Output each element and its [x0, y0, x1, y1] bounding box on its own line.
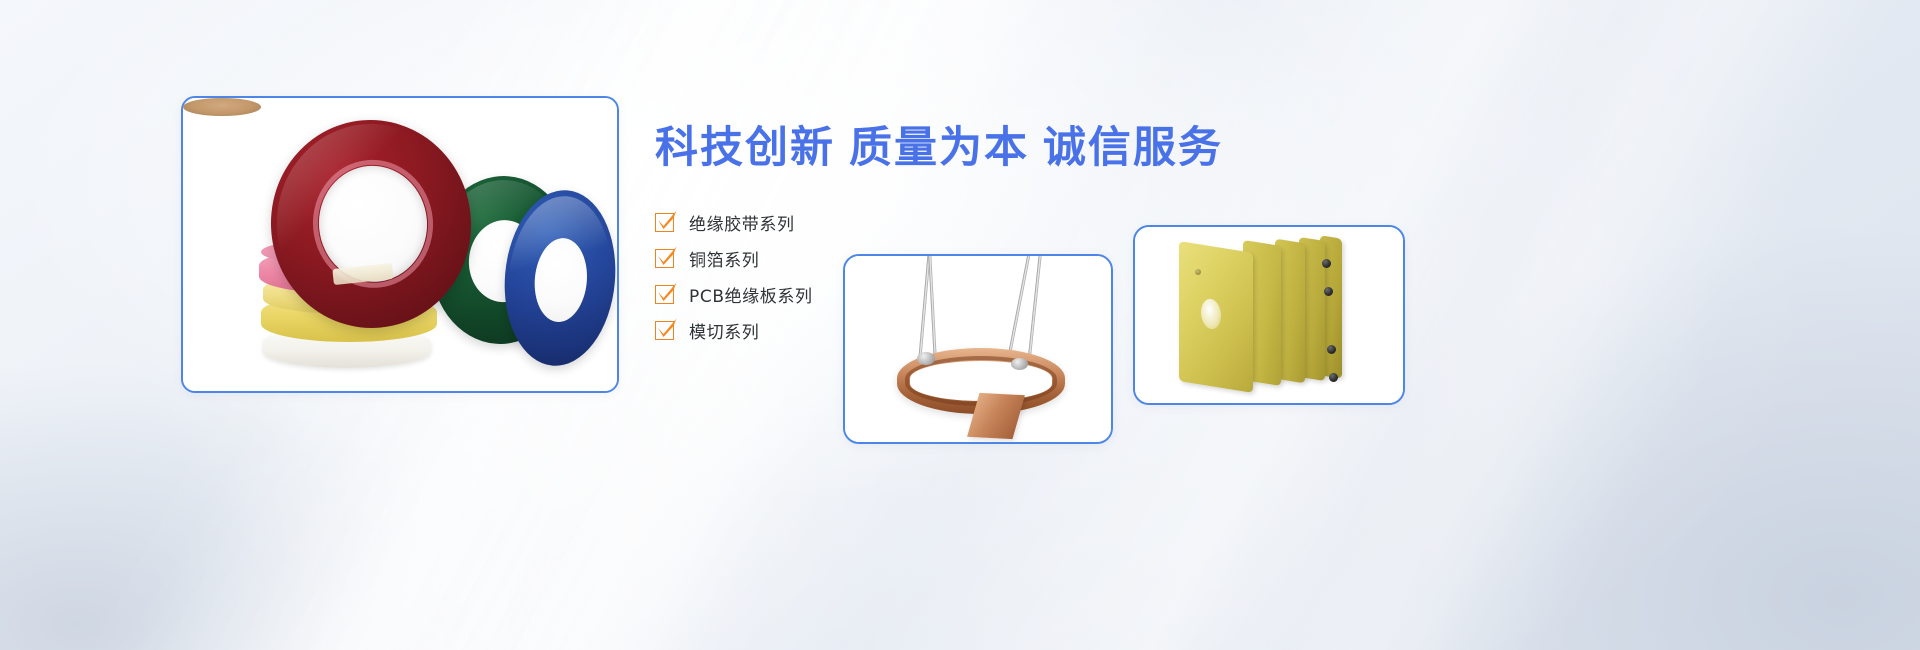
pcb-screw — [1327, 345, 1336, 354]
tape-roll-core — [183, 98, 261, 116]
banner-headline: 科技创新 质量为本 诚信服务 — [655, 124, 1275, 173]
pcb-screw — [1329, 373, 1338, 382]
pcb-screw — [1195, 269, 1201, 275]
feature-label: 铜箔系列 — [689, 246, 759, 271]
product-card-tapes[interactable] — [181, 96, 619, 393]
checkbox-check-icon — [655, 213, 674, 232]
solder-joint — [917, 352, 935, 365]
tape-roll-hole — [531, 236, 590, 324]
feature-label: PCB绝缘板系列 — [689, 282, 813, 307]
feature-label: 模切系列 — [689, 318, 759, 343]
feature-label: 绝缘胶带系列 — [689, 210, 795, 235]
pcb-screw — [1324, 287, 1333, 296]
solder-joint — [1011, 358, 1028, 370]
pcb-screw — [1322, 259, 1331, 268]
feature-item-insulation-tape[interactable]: 绝缘胶带系列 — [655, 204, 1275, 240]
checkbox-check-icon — [655, 321, 674, 340]
checkbox-check-icon — [655, 285, 674, 304]
hero-banner: 科技创新 质量为本 诚信服务 绝缘胶带系列 铜箔系列 — [0, 0, 1920, 650]
checkbox-check-icon — [655, 249, 674, 268]
insulation-tape-rolls-image — [183, 98, 617, 391]
